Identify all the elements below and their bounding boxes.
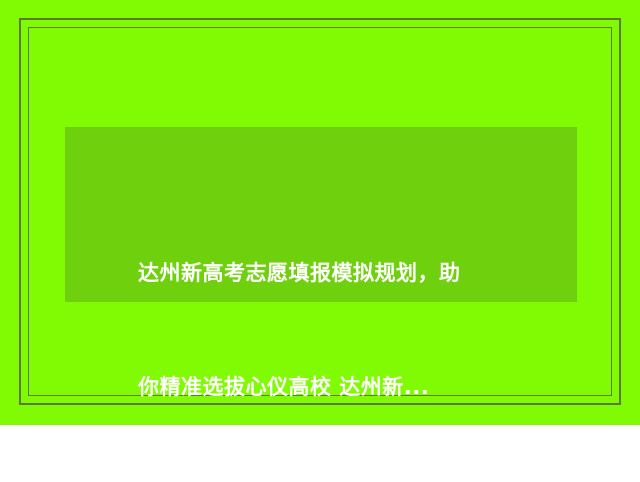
headline-line-1: 达州新高考志愿填报模拟规划，助 (138, 254, 518, 292)
headline-line-2: 你精准选拔心仪高校 达州新... (138, 368, 518, 406)
banner-canvas: 达州新高考志愿填报模拟规划，助 你精准选拔心仪高校 达州新... (0, 0, 640, 425)
headline-text: 达州新高考志愿填报模拟规划，助 你精准选拔心仪高校 达州新... (138, 178, 518, 482)
